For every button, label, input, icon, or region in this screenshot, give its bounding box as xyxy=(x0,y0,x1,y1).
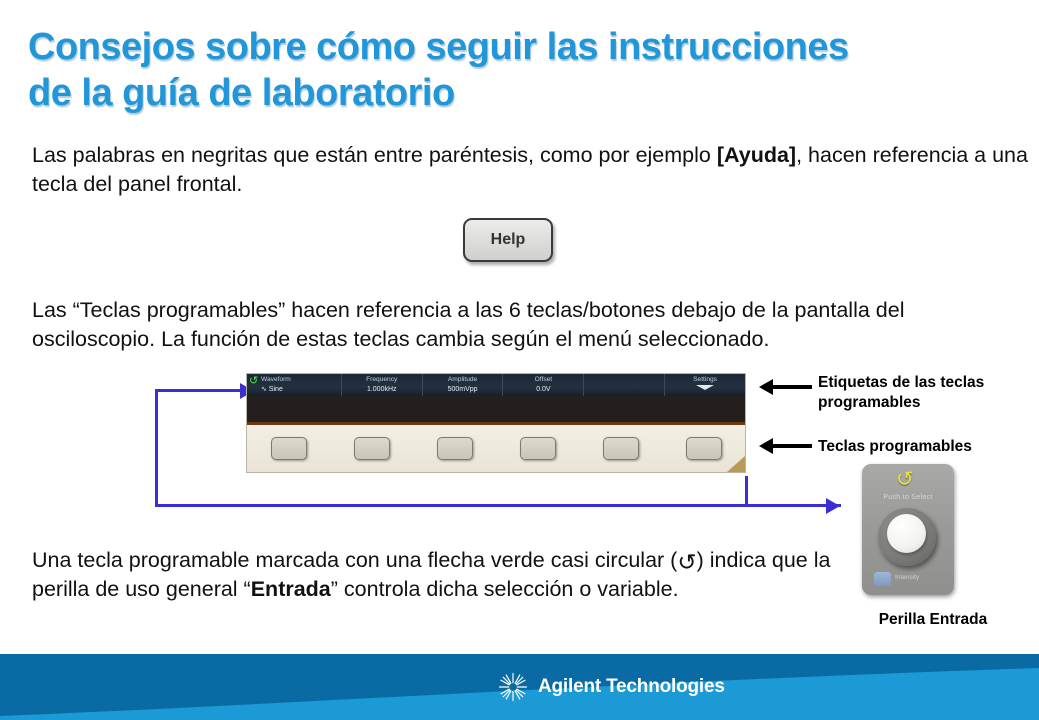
softkey-button-row xyxy=(247,425,745,472)
entry-knob-dial[interactable] xyxy=(878,508,936,566)
menu-cell-waveform[interactable]: ↺ Waveform ∿ Sine xyxy=(247,374,342,397)
help-key-label: Help xyxy=(491,231,526,249)
connector-arrow-to-knob-icon xyxy=(826,498,840,514)
entry-knob-cap xyxy=(887,514,926,553)
panel-corner-accent xyxy=(727,456,745,472)
knob-caption: Perilla Entrada xyxy=(843,611,1023,629)
paragraph-3-bold-entrada: Entrada xyxy=(251,577,331,601)
menu-label-frequency: Frequency xyxy=(342,375,422,385)
menu-value-waveform: ∿ Sine xyxy=(261,385,341,395)
menu-cell-amplitude[interactable]: Amplitude 500mVpp xyxy=(423,374,504,397)
page-title-line-1: Consejos sobre cómo seguir las instrucci… xyxy=(28,24,988,70)
softkey-button-1[interactable] xyxy=(247,437,330,460)
softkey-button-3[interactable] xyxy=(413,437,496,460)
callout-arrow-labels-icon xyxy=(772,385,812,389)
sine-wave-icon: ∿ xyxy=(261,386,267,393)
agilent-starburst-logo-icon xyxy=(498,672,528,702)
page-title: Consejos sobre cómo seguir las instrucci… xyxy=(28,24,988,117)
callout-label-softkeys: Teclas programables xyxy=(818,437,1028,457)
help-key-button[interactable]: Help xyxy=(463,218,553,262)
diamond-icon xyxy=(696,385,714,390)
connector-line-horizontal-bottom xyxy=(155,504,841,507)
menu-label-amplitude: Amplitude xyxy=(423,375,503,385)
callout-arrow-softkeys-icon xyxy=(772,444,812,448)
connector-line-horizontal-top xyxy=(155,389,243,392)
paragraph-front-panel-keys: Las palabras en negritas que están entre… xyxy=(32,141,1032,199)
paragraph-softkeys: Las “Teclas programables” hacen referenc… xyxy=(32,296,1032,354)
intensity-button[interactable] xyxy=(874,572,891,586)
menu-cell-frequency[interactable]: Frequency 1.000kHz xyxy=(342,374,423,397)
entry-knob-panel-image: ↺ Push to Select Intensity xyxy=(862,464,954,595)
rotary-yellow-icon: ↺ xyxy=(896,469,914,490)
footer-bar: Agilent Technologies xyxy=(0,654,1039,720)
menu-value-frequency: 1.000kHz xyxy=(342,385,422,395)
paragraph-3-text-c: ” controla dicha selección o variable. xyxy=(331,577,679,601)
menu-label-offset: Offset xyxy=(503,375,583,385)
intensity-label: Intensity xyxy=(895,574,919,581)
softkey-button-4[interactable] xyxy=(496,437,579,460)
menu-label-settings: Settings xyxy=(665,375,745,385)
knob-push-label: Push to Select xyxy=(862,494,954,501)
paragraph-1-bold-key: [Ayuda] xyxy=(717,143,796,167)
connector-line-vertical-left xyxy=(155,389,158,507)
softkey-label-bar: ↺ Waveform ∿ Sine Frequency 1.000kHz Amp… xyxy=(247,374,745,396)
page-title-line-2: de la guía de laboratorio xyxy=(28,70,988,116)
menu-cell-offset[interactable]: Offset 0.0V xyxy=(503,374,584,397)
paragraph-entry-knob: Una tecla programable marcada con una fl… xyxy=(32,546,832,604)
paragraph-1-text-a: Las palabras en negritas que están entre… xyxy=(32,143,717,167)
display-bezel-dark xyxy=(247,396,745,425)
company-name: Agilent Technologies xyxy=(538,676,725,698)
menu-label-waveform: Waveform xyxy=(261,375,341,385)
menu-cell-settings[interactable]: Settings xyxy=(665,374,745,397)
softkey-button-2[interactable] xyxy=(330,437,413,460)
oscilloscope-panel-image: ↺ Waveform ∿ Sine Frequency 1.000kHz Amp… xyxy=(247,374,745,472)
rotary-green-icon: ↺ xyxy=(249,376,259,386)
callout-label-softkey-labels: Etiquetas de las teclas programables xyxy=(818,373,1028,413)
menu-cell-empty[interactable] xyxy=(584,374,665,397)
menu-value-offset: 0.0V xyxy=(503,385,583,395)
menu-value-waveform-text: Sine xyxy=(269,386,283,393)
rotary-arrow-icon: ↺ xyxy=(677,551,696,574)
paragraph-3-text-a: Una tecla programable marcada con una fl… xyxy=(32,548,677,572)
connector-line-vertical-right xyxy=(745,476,748,506)
menu-value-amplitude: 500mVpp xyxy=(423,385,503,395)
softkey-button-5[interactable] xyxy=(579,437,662,460)
